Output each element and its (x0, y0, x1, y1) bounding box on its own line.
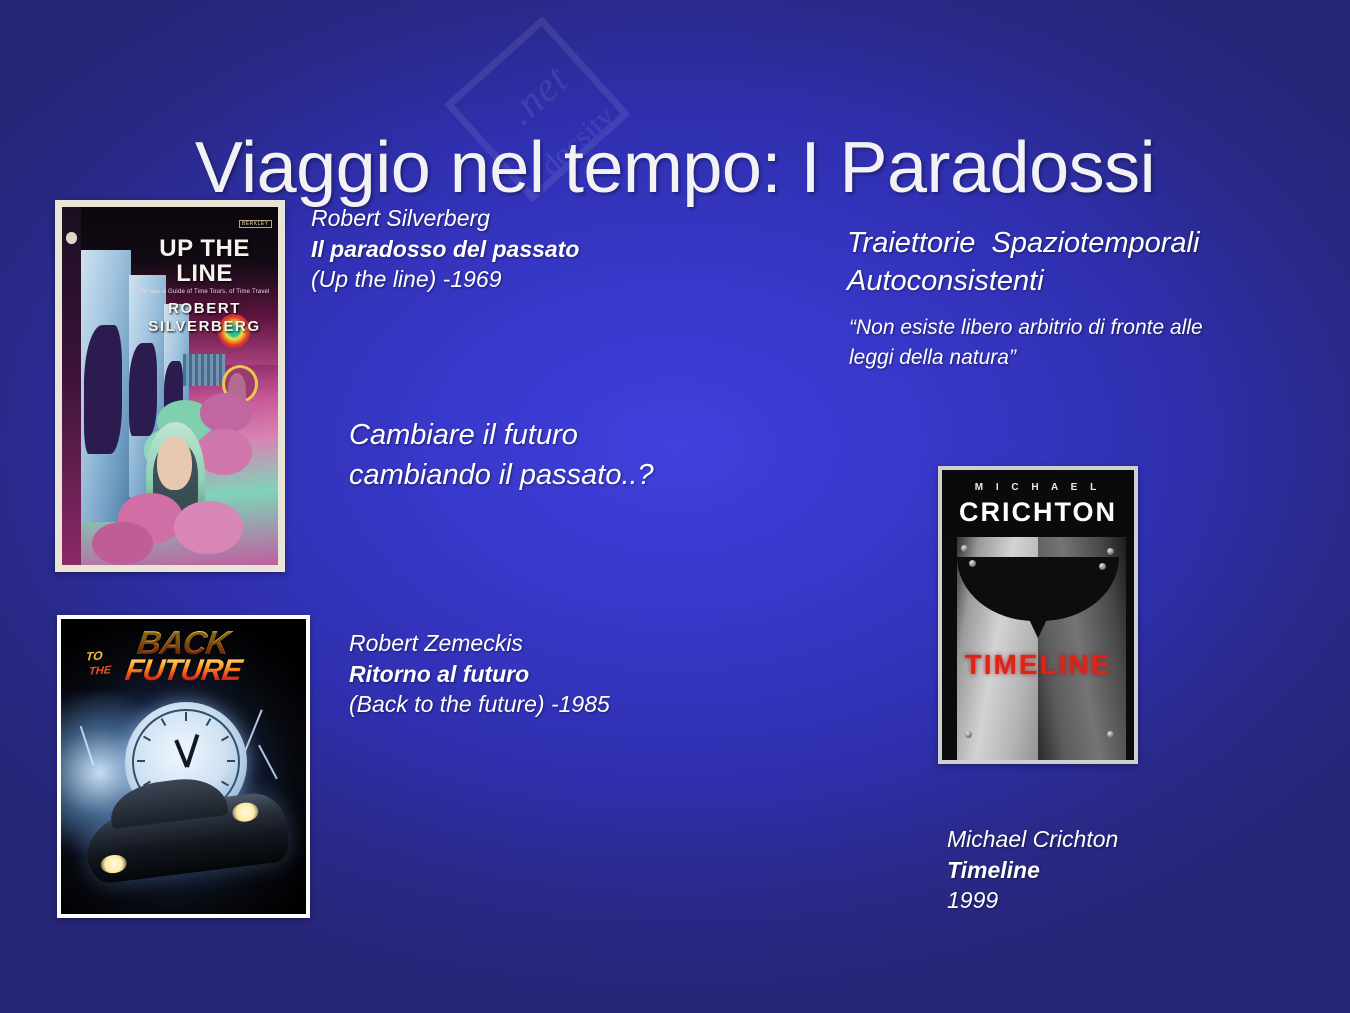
cover-cloud (200, 393, 252, 432)
cover-cloud (174, 501, 243, 555)
cover-author: ROBERT SILVERBERG (135, 300, 273, 336)
poster-logo: BACK FUTURE TO THE (73, 628, 294, 685)
poster-logo-line-1: BACK (71, 628, 296, 657)
cover-spine-logo (66, 232, 77, 243)
caption-title-italian: Ritorno al futuro (349, 659, 610, 690)
car-headlight (231, 802, 259, 823)
caption-silverberg: Robert Silverberg Il paradosso del passa… (311, 203, 579, 295)
cover-publisher-mark: BERKLEY (239, 220, 272, 228)
poster-artwork: BACK FUTURE TO THE (61, 619, 306, 914)
page-title: Viaggio nel tempo: I Paradossi (0, 128, 1350, 208)
clock-tick (185, 712, 187, 720)
cover-title: UP THE LINE (135, 236, 273, 286)
armor-rivet (965, 731, 972, 738)
cover-title: TIMELINE (942, 650, 1134, 680)
heading-self-consistent-trajectories: Traiettorie Spaziotemporali Autoconsiste… (847, 224, 1199, 300)
question-line-2: cambiando il passato..? (349, 455, 654, 495)
cover-author-first-name: M I C H A E L (942, 482, 1134, 493)
question-line-1: Cambiare il futuro (349, 415, 654, 455)
quote-line-2: leggi della natura” (849, 343, 1203, 373)
cover-distant-city (183, 354, 226, 386)
cover-spine (62, 207, 81, 565)
caption-title-original: (Up the line) -1969 (311, 264, 579, 295)
cover-artwork: BERKLEY UP THE LINE He was a Guide of Ti… (62, 207, 278, 565)
caption-year: 1999 (947, 885, 1118, 916)
caption-author: Robert Silverberg (311, 203, 579, 234)
question-change-the-future: Cambiare il futuro cambiando il passato.… (349, 415, 654, 495)
cover-tagline: He was a Guide of Time Tours, of Time Tr… (135, 288, 273, 297)
cover-title-group: UP THE LINE He was a Guide of Time Tours… (135, 236, 273, 336)
cover-woman-face (157, 436, 192, 490)
cover-cloud (92, 522, 152, 565)
cover-profile-face-1 (84, 325, 123, 454)
heading-line-2: Autoconsistenti (847, 262, 1199, 300)
poster-logo-small-1: TO (86, 649, 103, 662)
cover-profile-face-2 (129, 343, 157, 436)
caption-author: Michael Crichton (947, 824, 1118, 855)
quote-no-free-will: “Non esiste libero arbitrio di fronte al… (849, 313, 1203, 373)
caption-title-original: (Back to the future) -1985 (349, 689, 610, 720)
book-cover-up-the-line[interactable]: BERKLEY UP THE LINE He was a Guide of Ti… (55, 200, 285, 572)
armor-rivet (969, 560, 976, 567)
book-cover-timeline[interactable]: M I C H A E L CRICHTON TIMELINE (938, 466, 1138, 764)
caption-title: Timeline (947, 855, 1118, 886)
lightning-bolt-icon (258, 745, 278, 780)
movie-poster-back-to-the-future[interactable]: BACK FUTURE TO THE (57, 615, 310, 918)
car-taillight (99, 853, 127, 874)
cover-author-last-name: CRICHTON (942, 498, 1134, 526)
caption-author: Robert Zemeckis (349, 628, 610, 659)
caption-title-italian: Il paradosso del passato (311, 234, 579, 265)
quote-line-1: “Non esiste libero arbitrio di fronte al… (849, 313, 1203, 343)
heading-line-1: Traiettorie Spaziotemporali (847, 224, 1199, 262)
caption-crichton: Michael Crichton Timeline 1999 (947, 824, 1118, 916)
slide-canvas: .net docsity Viaggio nel tempo: I Parado… (0, 0, 1350, 1013)
cover-artwork: M I C H A E L CRICHTON TIMELINE (942, 470, 1134, 760)
poster-logo-small-2: THE (88, 665, 111, 678)
caption-zemeckis: Robert Zemeckis Ritorno al futuro (Back … (349, 628, 610, 720)
